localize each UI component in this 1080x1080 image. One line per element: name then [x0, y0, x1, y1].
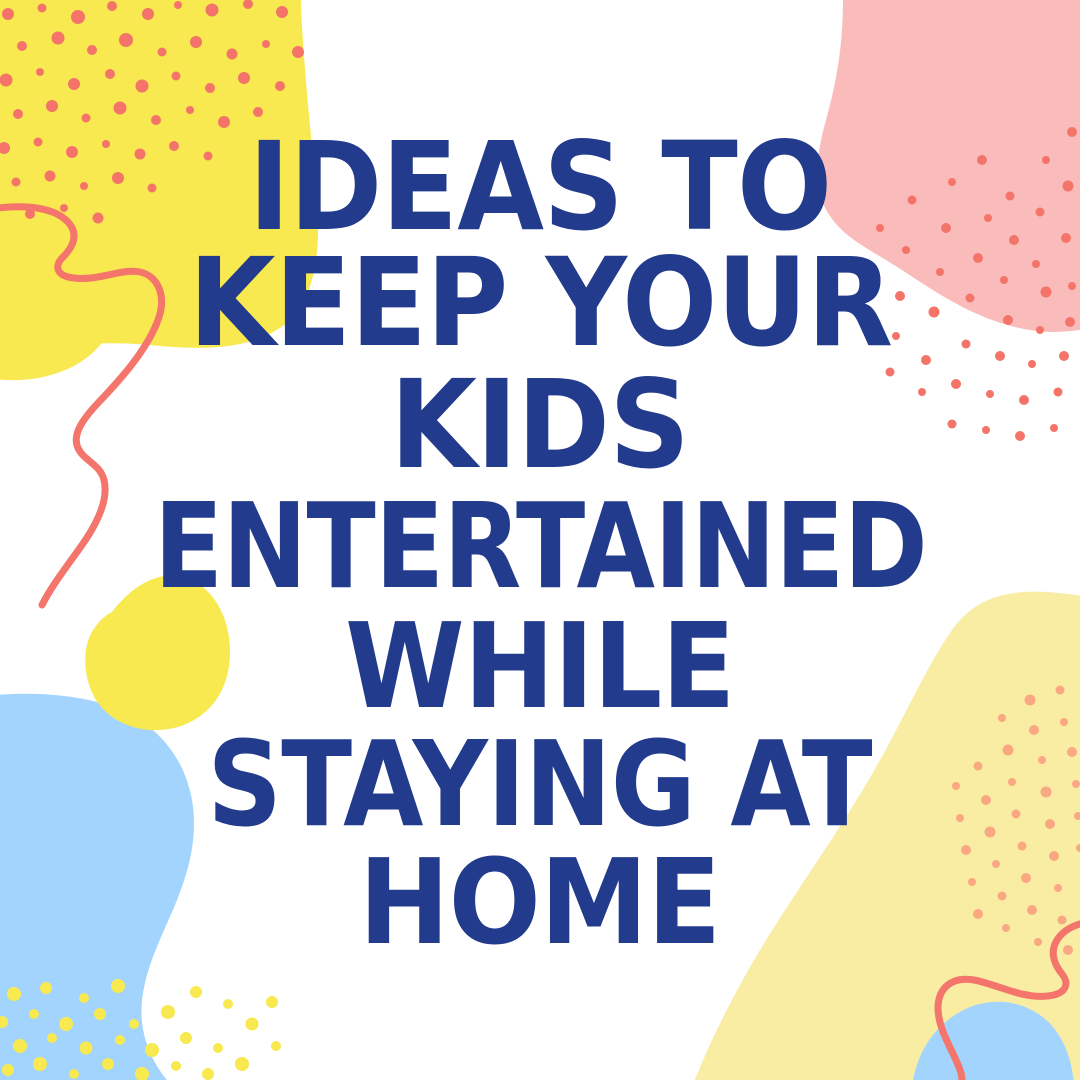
bottom-left-blue-blob [0, 694, 194, 1080]
poster-canvas: IDEAS TO KEEP YOUR KIDS ENTERTAINED WHIL… [0, 0, 1080, 1080]
decorative-background [0, 0, 1080, 1080]
bottom-left-yellow-pebble [85, 575, 230, 730]
top-right-pink-blob [818, 0, 1080, 332]
